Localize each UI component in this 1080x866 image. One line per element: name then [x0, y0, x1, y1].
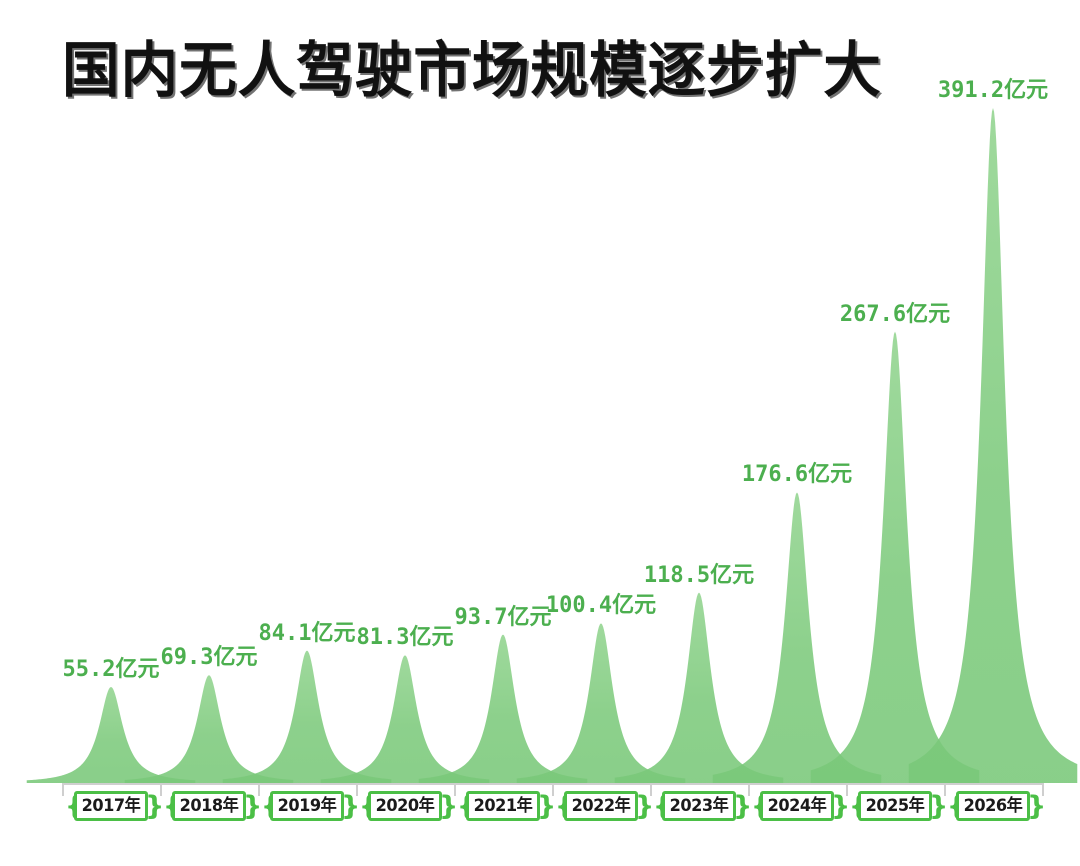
value-label-2026: 391.2亿元 [938, 72, 1048, 104]
right-bracket-icon: } [733, 790, 745, 823]
peak-2022 [517, 623, 686, 783]
value-label-2020: 81.3亿元 [357, 619, 454, 651]
year-badge-2023[interactable]: {2023年} [653, 789, 745, 825]
year-label: 2026年 [958, 791, 1028, 821]
value-label-2017: 55.2亿元 [63, 651, 160, 683]
chart-page: 国内无人驾驶市场规模逐步扩大 55.2亿元69.3亿元84.1亿元81.3亿元9… [0, 0, 1080, 866]
right-bracket-icon: } [341, 790, 353, 823]
value-label-2019: 84.1亿元 [259, 615, 356, 647]
year-label: 2019年 [272, 791, 342, 821]
year-label: 2017年 [76, 791, 146, 821]
year-badge-2024[interactable]: {2024年} [751, 789, 843, 825]
peaks-chart [0, 0, 1080, 800]
year-badge-2019[interactable]: {2019年} [261, 789, 353, 825]
right-bracket-icon: } [243, 790, 255, 823]
year-badge-2017[interactable]: {2017年} [65, 789, 157, 825]
year-label: 2025年 [860, 791, 930, 821]
year-label: 2020年 [370, 791, 440, 821]
year-axis: {2017年}{2018年}{2019年}{2020年}{2021年}{2022… [0, 789, 1080, 829]
right-bracket-icon: } [831, 790, 843, 823]
value-label-2018: 69.3亿元 [161, 639, 258, 671]
right-bracket-icon: } [1027, 790, 1039, 823]
peak-2021 [419, 635, 588, 783]
year-badge-2025[interactable]: {2025年} [849, 789, 941, 825]
year-badge-2020[interactable]: {2020年} [359, 789, 451, 825]
right-bracket-icon: } [635, 790, 647, 823]
value-label-2025: 267.6亿元 [840, 296, 950, 328]
right-bracket-icon: } [537, 790, 549, 823]
year-badge-2018[interactable]: {2018年} [163, 789, 255, 825]
year-label: 2024年 [762, 791, 832, 821]
right-bracket-icon: } [145, 790, 157, 823]
year-badge-2021[interactable]: {2021年} [457, 789, 549, 825]
peak-series [27, 108, 1078, 783]
year-label: 2018年 [174, 791, 244, 821]
year-label: 2021年 [468, 791, 538, 821]
value-label-2024: 176.6亿元 [742, 456, 852, 488]
value-label-2021: 93.7亿元 [455, 599, 552, 631]
right-bracket-icon: } [929, 790, 941, 823]
year-label: 2023年 [664, 791, 734, 821]
peak-2020 [321, 655, 490, 783]
peak-2018 [125, 675, 294, 783]
peak-2026 [909, 108, 1078, 783]
peak-2017 [27, 687, 196, 783]
year-badge-2026[interactable]: {2026年} [947, 789, 1039, 825]
right-bracket-icon: } [439, 790, 451, 823]
plot-area: 55.2亿元69.3亿元84.1亿元81.3亿元93.7亿元100.4亿元118… [0, 0, 1080, 800]
value-label-2023: 118.5亿元 [644, 557, 754, 589]
value-label-2022: 100.4亿元 [546, 587, 656, 619]
year-label: 2022年 [566, 791, 636, 821]
year-badge-2022[interactable]: {2022年} [555, 789, 647, 825]
